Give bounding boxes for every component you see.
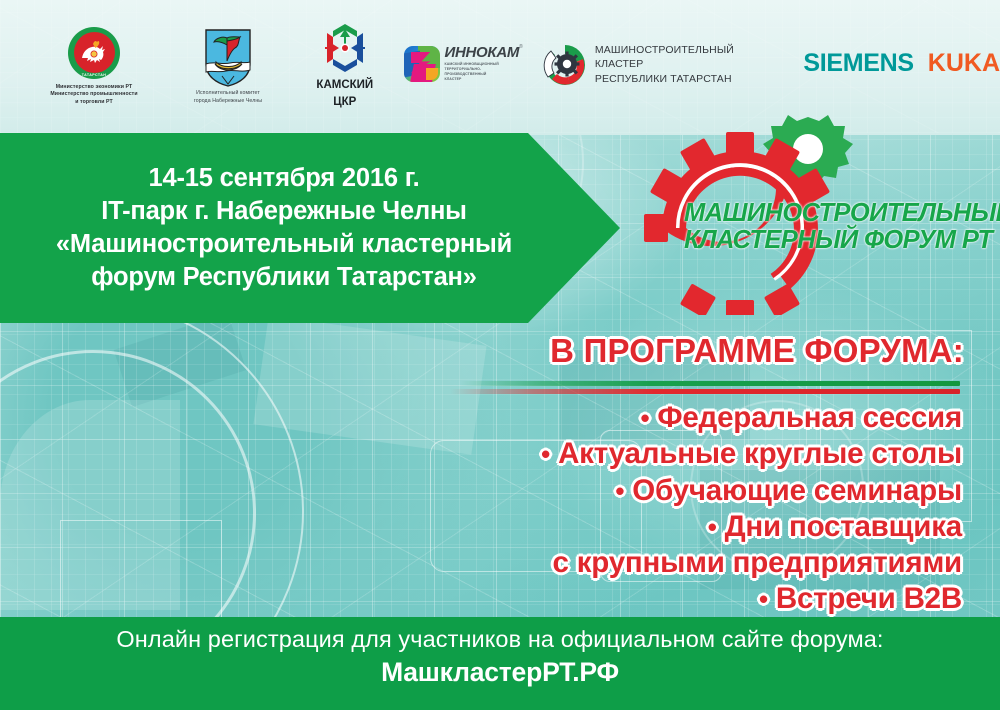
caption-line: Министерство экономики РТ (34, 84, 154, 92)
divider-green (460, 381, 960, 386)
sponsor-kamsky-ckr: КАМСКИЙ ЦКР (304, 23, 386, 110)
trademark-symbol: ® (519, 45, 523, 50)
event-title-line1: «Машиностроительный кластерный (14, 228, 554, 261)
sponsor-kuka: KUKA (928, 49, 1000, 78)
caption-line: МАШИНОСТРОИТЕЛЬНЫЙ КЛАСТЕР (595, 43, 781, 71)
bullet-icon: • (640, 403, 649, 433)
program-list: • Федеральная сессия • Актуальные круглы… (322, 400, 962, 618)
kuka-wordmark: KUKA (928, 49, 1000, 78)
shield-glyph (204, 28, 252, 88)
sponsor-caption: Министерство экономики РТ Министерство п… (34, 84, 154, 107)
innokam-lockup: ИННОКАМ ® КАМСКИЙ ИННОВАЦИОННЫЙ ТЕРРИТОР… (404, 45, 523, 83)
innokam-subtitle: КАМСКИЙ ИННОВАЦИОННЫЙ ТЕРРИТОРИАЛЬНО-ПРО… (445, 62, 523, 83)
event-details-text: 14-15 сентября 2016 г. IT-парк г. Набере… (0, 162, 554, 295)
gear-cluster-glyph (543, 43, 587, 87)
innokam-square-icon (404, 46, 440, 82)
forum-logo: МАШИНОСТРОИТЕЛЬНЫЙ КЛАСТЕРНЫЙ ФОРУМ РТ (612, 110, 1000, 315)
hexagon-arrows-glyph (319, 23, 371, 73)
caption-line: города Набережные Челны (172, 98, 284, 106)
event-date: 14-15 сентября 2016 г. (14, 162, 554, 195)
list-item: • Встречи B2B (322, 581, 962, 617)
innokam-text-block: ИННОКАМ ® КАМСКИЙ ИННОВАЦИОННЫЙ ТЕРРИТОР… (445, 45, 523, 83)
caption-line: КЛАСТЕР (445, 77, 523, 82)
program-item-text: с крупными предприятиями (553, 546, 963, 579)
program-item-text: Обучающие семинары (632, 474, 962, 507)
mashcluster-lockup: МАШИНОСТРОИТЕЛЬНЫЙ КЛАСТЕР РЕСПУБЛИКИ ТА… (543, 43, 781, 87)
bullet-icon: • (541, 439, 550, 469)
poster-root: ТАТАРСТАН Министерство экономики РТ Мини… (0, 0, 1000, 710)
sponsor-chelny-executive-committee: Исполнительный комитет города Набережные… (172, 28, 284, 105)
mashcluster-caption: МАШИНОСТРОИТЕЛЬНЫЙ КЛАСТЕР РЕСПУБЛИКИ ТА… (595, 43, 781, 86)
list-item: • Обучающие семинары (322, 473, 962, 509)
list-item: с крупными предприятиями (322, 545, 962, 581)
list-item: • Дни поставщика (322, 509, 962, 545)
sponsor-innokam: ИННОКАМ ® КАМСКИЙ ИННОВАЦИОННЫЙ ТЕРРИТОР… (404, 45, 523, 83)
sponsor-ministry-economy-rt: ТАТАРСТАН Министерство экономики РТ Мини… (34, 27, 154, 107)
forum-logo-line2: КЛАСТЕРНЫЙ ФОРУМ РТ (684, 227, 994, 254)
caption-line: РЕСПУБЛИКИ ТАТАРСТАН (595, 72, 781, 86)
innokam-wordmark: ИННОКАМ (445, 45, 520, 60)
emblem-ring-text: ТАТАРСТАН (82, 73, 107, 77)
program-item-text: Федеральная сессия (657, 401, 962, 434)
program-item-text: Встречи B2B (776, 582, 962, 615)
event-venue: IT-парк г. Набережные Челны (14, 195, 554, 228)
program-item-text: Актуальные круглые столы (558, 437, 962, 470)
sponsor-caption: КАМСКИЙ ЦКР (304, 77, 386, 110)
gear-cluster-icon (543, 43, 587, 87)
snow-leopard-glyph (79, 40, 109, 66)
siemens-wordmark: SIEMENS (803, 49, 913, 78)
naberezhnye-chelny-coat-of-arms-icon (204, 28, 252, 88)
divider-red (450, 389, 960, 394)
caption-line: ТЕРРИТОРИАЛЬНО-ПРОИЗВОДСТВЕННЫЙ (445, 67, 523, 78)
registration-text: Онлайн регистрация для участников на офи… (116, 626, 883, 653)
list-item: • Федеральная сессия (322, 400, 962, 436)
bullet-icon: • (615, 476, 624, 506)
program-section: В ПРОГРАММЕ ФОРУМА: • Федеральная сессия… (0, 322, 1000, 617)
event-details-banner: 14-15 сентября 2016 г. IT-парк г. Набере… (0, 133, 620, 323)
list-item: • Актуальные круглые столы (322, 436, 962, 472)
forum-logo-text: МАШИНОСТРОИТЕЛЬНЫЙ КЛАСТЕРНЫЙ ФОРУМ РТ (684, 200, 994, 254)
bullet-icon: • (708, 512, 717, 542)
innokam-yellow-shape (426, 68, 438, 80)
registration-footer: Онлайн регистрация для участников на офи… (0, 617, 1000, 710)
sponsor-caption: Исполнительный комитет города Набережные… (172, 90, 284, 105)
event-title-line2: форум Республики Татарстан» (14, 261, 554, 294)
caption-line: КАМСКИЙ ЦКР (304, 77, 386, 110)
sponsor-siemens: SIEMENS (803, 49, 913, 78)
program-item-text: Дни поставщика (725, 510, 962, 543)
caption-line: и торговли РТ (34, 99, 154, 107)
program-title: В ПРОГРАММЕ ФОРУМА: (550, 332, 964, 370)
kamsky-ckr-hexagon-icon (319, 23, 371, 73)
caption-line: Исполнительный комитет (172, 90, 284, 98)
caption-line: Министерство промышленности (34, 91, 154, 99)
tatarstan-coat-of-arms-icon: ТАТАРСТАН (68, 27, 120, 79)
sponsor-mashcluster-rt: МАШИНОСТРОИТЕЛЬНЫЙ КЛАСТЕР РЕСПУБЛИКИ ТА… (543, 43, 781, 87)
forum-logo-line1: МАШИНОСТРОИТЕЛЬНЫЙ (684, 200, 994, 227)
bullet-icon: • (759, 584, 768, 614)
forum-website-url[interactable]: МашкластерРТ.РФ (381, 657, 619, 688)
